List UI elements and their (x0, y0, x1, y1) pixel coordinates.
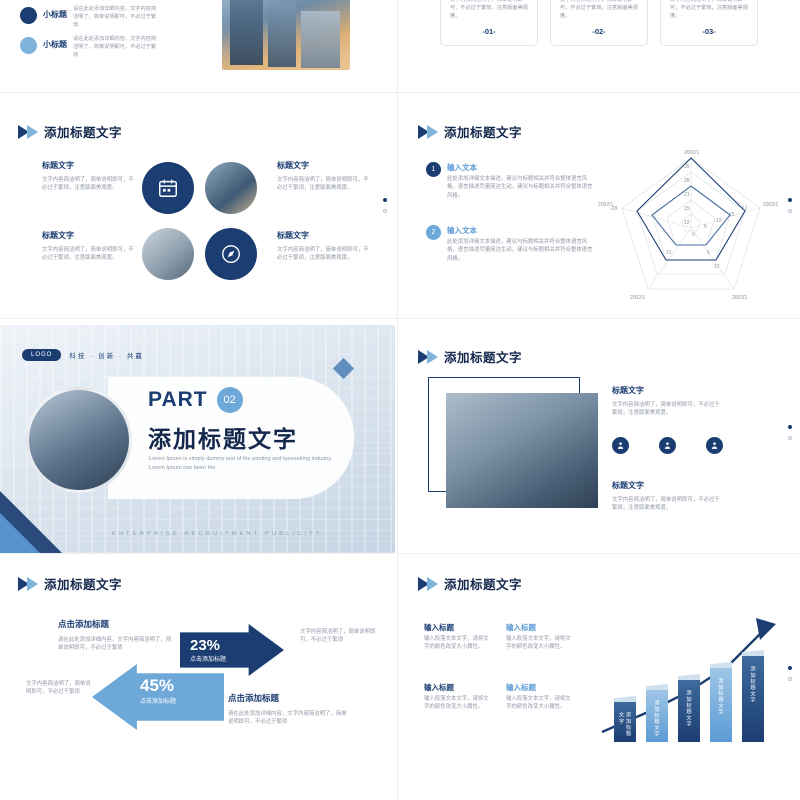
section-title-text: 添加标题文字 (444, 347, 522, 366)
bar-chart: 添加标题文字 添加标题文字 添加标题文字 添加标题文字 添加标题文字 (608, 652, 778, 742)
flag-icon-light (427, 125, 438, 139)
part-number-badge: 02 (217, 387, 243, 413)
card-text: 文字内容简洁明了，简单说明即可，不必过于繁琐，注意版面美观度。 (450, 0, 528, 20)
legend-label: 小标题 (43, 9, 67, 20)
section-title-text: 添加标题文字 (444, 574, 522, 593)
section-title-text: 添加标题文字 (44, 122, 122, 141)
lorem-text: Lorem Ipsum is simply dummy text of the … (149, 455, 337, 473)
bar: 添加标题文字 (646, 690, 668, 742)
card[interactable]: 文字内容简洁明了，简单说明即可，不必过于繁琐，注意版面美观度。 -03- (660, 0, 758, 46)
kpi-desc: 输入段落文本文字，请将文字的颜色改变大小属性。 (424, 695, 494, 712)
svg-text:21: 21 (684, 192, 690, 198)
section-title-text: 添加标题文字 (44, 574, 122, 593)
card-number: -03- (670, 27, 748, 36)
slide-radar[interactable]: 添加标题文字 1 输入文本 此处添加详细文本描述，建议与标题相关并符合整体语言风… (400, 100, 800, 318)
feature-block: 标题文字 文字内容简洁明了，简单说明即可，不必过于繁琐，注意版面美观度。 (277, 230, 373, 263)
section-title-text: 添加标题文字 (444, 122, 522, 141)
left-desc: 请在此处添加详细内容，文字内容简洁明了，简单说明即可，不必过于繁琐 (58, 636, 176, 653)
slide-four-circles[interactable]: 添加标题文字 标题文字 文字内容简洁明了，简单说明即可，不必过于繁琐，注意版面美… (0, 100, 395, 318)
bar-label: 添加标题文字 (654, 700, 661, 737)
part-label: PART (148, 388, 208, 412)
svg-text:28: 28 (684, 178, 690, 184)
pager-dot-active[interactable] (788, 666, 792, 670)
icon-row (612, 437, 723, 454)
pager-dots[interactable] (788, 425, 792, 440)
svg-text:0: 0 (692, 232, 695, 238)
pager-dot[interactable] (788, 436, 792, 440)
svg-text:5: 5 (704, 224, 707, 230)
slide-part-banner[interactable]: LOGO 科技 · 创新 · 共赢 PART 02 添加标题文字 Lorem I… (0, 325, 395, 553)
kpi-title: 输入标题 (424, 622, 494, 633)
section-title: 添加标题文字 (418, 347, 522, 366)
item-title: 输入文本 (447, 162, 596, 173)
item-title: 输入文本 (447, 225, 596, 236)
feature-block: 标题文字 文字内容简洁明了，简单说明即可，不必过于繁琐，注意版面美观度。 (42, 160, 138, 193)
part-row: PART 02 (148, 387, 243, 413)
bar: 添加标题文字 (710, 668, 732, 742)
svg-text:12: 12 (714, 264, 720, 270)
slide-arrows[interactable]: 添加标题文字 点击添加标题 请在此处添加详细内容，文字内容简洁明了，简单说明即可… (0, 560, 395, 800)
side-text-block: 文字内容简洁明了，简单说明即可，不必过于繁琐 (26, 680, 92, 697)
text-block: 标题文字 文字内容简洁明了，简单说明即可，不必过于繁琐，注意版面美观度。 (612, 385, 720, 418)
person-icon[interactable] (659, 437, 676, 454)
slide-photo-frame[interactable]: 添加标题文字 标题文字 文字内容简洁明了，简单说明即可，不必过于繁琐，注意版面美… (400, 325, 800, 553)
corner-triangle-blue (0, 513, 40, 553)
left-text-block: 点击添加标题 请在此处添加详细内容，文字内容简洁明了，简单说明即可，不必过于繁琐 (58, 618, 176, 653)
pager-dot-active[interactable] (788, 198, 792, 202)
svg-text:12: 12 (716, 218, 722, 224)
business-team-photo (26, 387, 132, 493)
step-number: 2 (426, 225, 441, 240)
item-desc: 此处添加详细文本描述，建议与标题相关并符合整体语言风格，语言描述尽量简洁生动。建… (447, 238, 596, 263)
side-desc: 文字内容简洁明了，简单说明即可，不必过于繁琐 (26, 680, 92, 697)
feature-desc: 文字内容简洁明了，简单说明即可，不必过于繁琐，注意版面美观度。 (277, 246, 373, 263)
legend-item: 小标题 请在此处添加详细内容，文字内容简洁明了，简单说明即可，不必过于繁琐 (20, 6, 159, 29)
feature-title: 标题文字 (42, 230, 138, 241)
divider (0, 92, 800, 93)
bottom-head: 点击添加标题 (228, 692, 348, 704)
feature-block: 标题文字 文字内容简洁明了，简单说明即可，不必过于繁琐，注意版面美观度。 (42, 230, 138, 263)
section-title: 添加标题文字 (418, 122, 522, 141)
card[interactable]: 文字内容简洁明了，简单说明即可，不必过于繁琐，注意版面美观度。 -01- (440, 0, 538, 46)
presentation-preview-page: 小标题 请在此处添加详细内容，文字内容简洁明了，简单说明即可，不必过于繁琐 小标… (0, 0, 800, 800)
slide-three-cards[interactable]: 文字内容简洁明了，简单说明即可，不必过于繁琐，注意版面美观度。 -01- 文字内… (400, 0, 800, 92)
kpi-desc: 输入段落文本文字，请将文字的颜色改变大小属性。 (506, 695, 576, 712)
kpi-title: 输入标题 (506, 682, 576, 693)
legend-item: 小标题 请在此处添加详细内容，文字内容简洁明了，简单说明即可，不必过于繁琐 (20, 36, 159, 59)
feature-desc: 文字内容简洁明了，简单说明即可，不必过于繁琐，注意版面美观度。 (42, 176, 138, 193)
legend-dot-navy (20, 7, 37, 24)
item-desc: 此处添加详细文本描述，建议与标题相关并符合整体语言风格，语言描述尽量简洁生动。建… (447, 175, 596, 200)
feature-title: 标题文字 (42, 160, 138, 171)
slide-legend-city[interactable]: 小标题 请在此处添加详细内容，文字内容简洁明了，简单说明即可，不必过于繁琐 小标… (0, 0, 395, 92)
meeting-photo[interactable] (205, 162, 257, 214)
svg-text:2002/1: 2002/1 (763, 202, 779, 208)
section-title: 添加标题文字 (18, 574, 122, 593)
pager-dots[interactable] (788, 198, 792, 213)
kpi-block: 输入标题 输入段落文本文字，请将文字的颜色改变大小属性。 (424, 682, 494, 712)
section-title: 添加标题文字 (418, 574, 522, 593)
person-icon[interactable] (612, 437, 629, 454)
svg-text:15: 15 (729, 212, 735, 218)
bar-label: 添加标题文字 (718, 678, 725, 715)
bottom-text-block: 点击添加标题 请在此处添加详细内容，文字内容简洁明了，简单说明即可，不必过于繁琐 (228, 692, 348, 727)
feature-title: 标题文字 (277, 230, 373, 241)
text-block: 标题文字 文字内容简洁明了，简单说明即可，不必过于繁琐，注意版面美观度。 (612, 480, 720, 513)
percent-value: 45% (140, 676, 176, 696)
kpi-block: 输入标题 输入段落文本文字，请将文字的颜色改变大小属性。 (424, 622, 494, 652)
calendar-icon[interactable] (142, 162, 194, 214)
arrow-left-45[interactable]: 45% 点击添加标题 (92, 664, 224, 730)
logo-badge: LOGO (22, 349, 61, 361)
svg-text:5: 5 (707, 250, 710, 256)
person-photo[interactable] (142, 228, 194, 280)
percent-caption: 点击添加标题 (190, 654, 226, 663)
compass-icon[interactable] (205, 228, 257, 280)
right-desc: 文字内容简洁明了，简单说明即可，不必过于繁琐 (300, 628, 380, 645)
feature-desc: 文字内容简洁明了，简单说明即可，不必过于繁琐，注意版面美观度。 (277, 176, 373, 193)
percent-caption: 点击添加标题 (140, 696, 176, 705)
legend-desc: 请在此处添加详细内容，文字内容简洁明了，简单说明即可，不必过于繁琐 (73, 36, 159, 59)
kpi-desc: 输入段落文本文字，请将文字的颜色改变大小属性。 (506, 635, 576, 652)
slogan-text: 科技 · 创新 · 共赢 (69, 350, 144, 360)
bar: 添加标题文字 (742, 656, 764, 742)
feature-desc: 文字内容简洁明了，简单说明即可，不必过于繁琐，注意版面美观度。 (42, 246, 138, 263)
pager-dot-active[interactable] (788, 425, 792, 429)
city-buildings-photo (222, 0, 350, 70)
numbered-item: 2 输入文本 此处添加详细文本描述，建议与标题相关并符合整体语言风格，语言描述尽… (426, 225, 596, 263)
left-head: 点击添加标题 (58, 618, 176, 630)
divider (0, 553, 800, 554)
block-title: 标题文字 (612, 480, 720, 491)
slide-bar-chart[interactable]: 添加标题文字 输入标题 输入段落文本文字，请将文字的颜色改变大小属性。 输入标题… (400, 560, 800, 800)
card-text: 文字内容简洁明了，简单说明即可，不必过于繁琐，注意版面美观度。 (670, 0, 748, 20)
pager-dots[interactable] (383, 198, 387, 213)
bar-cap (678, 674, 700, 680)
pager-dot-active[interactable] (383, 198, 387, 202)
section-title: 添加标题文字 (18, 122, 122, 141)
divider-vertical (397, 0, 398, 800)
svg-text:12: 12 (742, 206, 748, 212)
block-title: 标题文字 (612, 385, 720, 396)
arrow-right-23[interactable]: 23% 点击添加标题 (180, 624, 284, 676)
business-people-photo (446, 393, 598, 508)
kpi-block: 输入标题 输入段落文本文字，请将文字的颜色改变大小属性。 (506, 622, 576, 652)
legend-label: 小标题 (43, 39, 67, 50)
svg-text:12: 12 (684, 220, 690, 226)
slide-heading: 添加标题文字 (148, 420, 298, 454)
block-desc: 文字内容简洁明了，简单说明即可，不必过于繁琐，注意版面美观度。 (612, 496, 720, 513)
bar-label: 添加标题文字 (686, 690, 693, 727)
card-text: 文字内容简洁明了，简单说明即可，不必过于繁琐，注意版面美观度。 (560, 0, 638, 20)
kpi-title: 输入标题 (424, 682, 494, 693)
svg-text:2002/1: 2002/1 (684, 150, 700, 156)
svg-text:2002/1: 2002/1 (732, 295, 748, 301)
bar-label: 添加标题文字 (618, 712, 632, 742)
bar-cap (646, 684, 668, 690)
bar-cap (614, 696, 636, 702)
bar: 添加标题文字 (614, 702, 636, 742)
svg-text:2002/1: 2002/1 (630, 295, 646, 301)
person-icon[interactable] (706, 437, 723, 454)
block-desc: 文字内容简洁明了，简单说明即可，不必过于繁琐，注意版面美观度。 (612, 401, 720, 418)
kpi-title: 输入标题 (506, 622, 576, 633)
step-number: 1 (426, 162, 441, 177)
flag-icon-light (427, 577, 438, 591)
svg-text:35: 35 (684, 164, 690, 170)
bar-label: 添加标题文字 (750, 666, 757, 703)
bar: 添加标题文字 (678, 680, 700, 742)
pager-dot[interactable] (788, 209, 792, 213)
radar-chart: 2002/1 2002/1 2002/1 2002/1 2002/1 35 28… (596, 136, 786, 306)
legend-desc: 请在此处添加详细内容，文字内容简洁明了，简单说明即可，不必过于繁琐 (73, 6, 159, 29)
kpi-desc: 输入段落文本文字，请将文字的颜色改变大小属性。 (424, 635, 494, 652)
card-number: -01- (450, 27, 528, 36)
flag-icon-light (27, 577, 38, 591)
card-number: -02- (560, 27, 638, 36)
card[interactable]: 文字内容简洁明了，简单说明即可，不必过于繁琐，注意版面美观度。 -02- (550, 0, 648, 46)
svg-text:21: 21 (666, 250, 672, 256)
svg-text:15: 15 (684, 206, 690, 212)
pager-dots[interactable] (788, 666, 792, 681)
footer-text: ENTERPRISE RECRUITMENT PUBLICITY (112, 531, 323, 537)
numbered-item: 1 输入文本 此处添加详细文本描述，建议与标题相关并符合整体语言风格，语言描述尽… (426, 162, 596, 200)
pager-dot[interactable] (788, 677, 792, 681)
svg-text:-28: -28 (610, 206, 617, 212)
divider (0, 318, 800, 319)
percent-value: 23% (190, 637, 226, 654)
legend-dot-light (20, 37, 37, 54)
right-text-block: 文字内容简洁明了，简单说明即可，不必过于繁琐 (300, 628, 380, 645)
pager-dot[interactable] (383, 209, 387, 213)
flag-icon-light (27, 125, 38, 139)
feature-block: 标题文字 文字内容简洁明了，简单说明即可，不必过于繁琐，注意版面美观度。 (277, 160, 373, 193)
logo-area: LOGO 科技 · 创新 · 共赢 (22, 349, 144, 361)
bottom-desc: 请在此处添加详细内容，文字内容简洁明了，简单说明即可，不必过于繁琐 (228, 710, 348, 727)
feature-title: 标题文字 (277, 160, 373, 171)
bar-cap (710, 662, 732, 668)
kpi-block: 输入标题 输入段落文本文字，请将文字的颜色改变大小属性。 (506, 682, 576, 712)
flag-icon-light (427, 350, 438, 364)
